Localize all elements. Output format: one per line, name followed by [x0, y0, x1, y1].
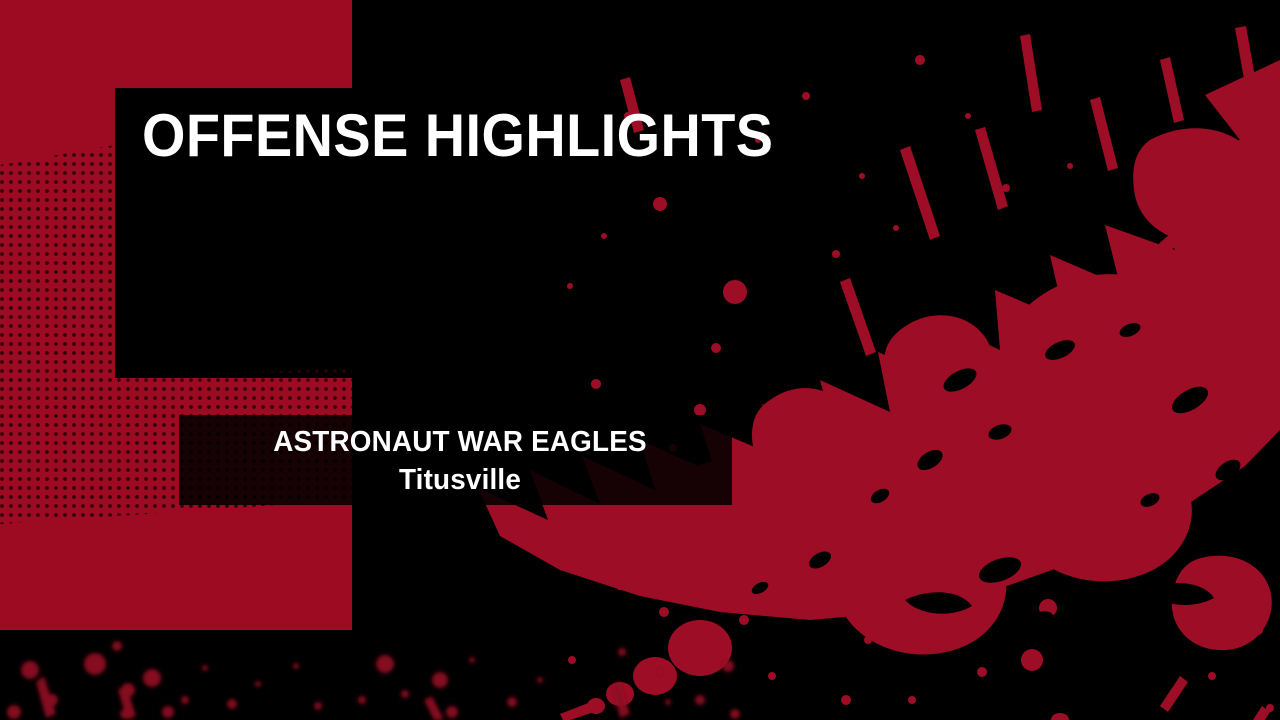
highlight-title-slide: OFFENSE HIGHLIGHTS ASTRONAUT WAR EAGLES … [0, 0, 1280, 720]
team-name: ASTRONAUT WAR EAGLES [190, 423, 730, 461]
bottom-left-speck-cluster [7, 641, 740, 720]
red-block-column [0, 88, 115, 378]
red-block-top [0, 0, 352, 88]
page-title: OFFENSE HIGHLIGHTS [142, 104, 773, 168]
team-location: Titusville [190, 461, 730, 499]
subtitle-block: ASTRONAUT WAR EAGLES Titusville [179, 423, 741, 499]
